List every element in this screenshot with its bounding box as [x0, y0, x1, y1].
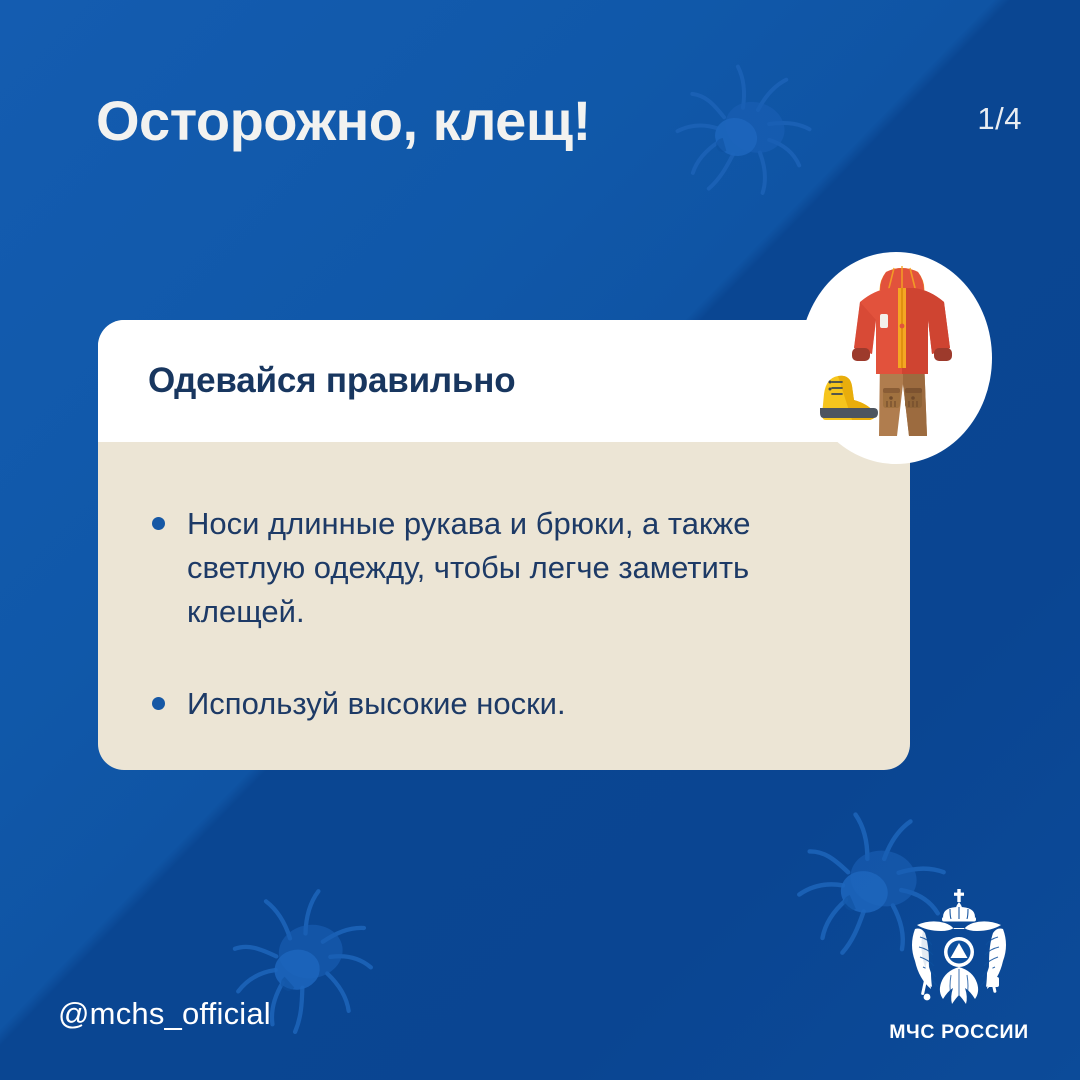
- list-item: Носи длинные рукава и брюки, а также све…: [152, 502, 864, 634]
- mchs-russia-eagle-emblem: МЧС РОССИИ: [884, 885, 1034, 1044]
- card-title: Одевайся правильно: [148, 361, 515, 401]
- bullet-text: Используй высокие носки.: [187, 682, 566, 726]
- outdoor-clothing-illustration: [808, 262, 988, 458]
- card-header: Одевайся правильно: [98, 320, 910, 442]
- bullet-dot-icon: [152, 517, 165, 530]
- list-item: Используй высокие носки.: [152, 682, 864, 726]
- page-counter: 1/4: [977, 101, 1022, 137]
- bullet-dot-icon: [152, 697, 165, 710]
- bullet-text: Носи длинные рукава и брюки, а также све…: [187, 502, 827, 634]
- page-title: Осторожно, клещ!: [96, 88, 591, 153]
- card-body: Носи длинные рукава и брюки, а также све…: [98, 442, 910, 726]
- hooded-jacket-icon: [852, 266, 952, 374]
- info-card: Одевайся правильно Носи длинные рукава и…: [98, 320, 910, 770]
- social-handle: @mchs_official: [58, 996, 271, 1032]
- infographic-poster: Осторожно, клещ! 1/4: [0, 0, 1080, 1080]
- hiking-boot-icon: [820, 376, 878, 420]
- emblem-caption: МЧС РОССИИ: [884, 1021, 1034, 1044]
